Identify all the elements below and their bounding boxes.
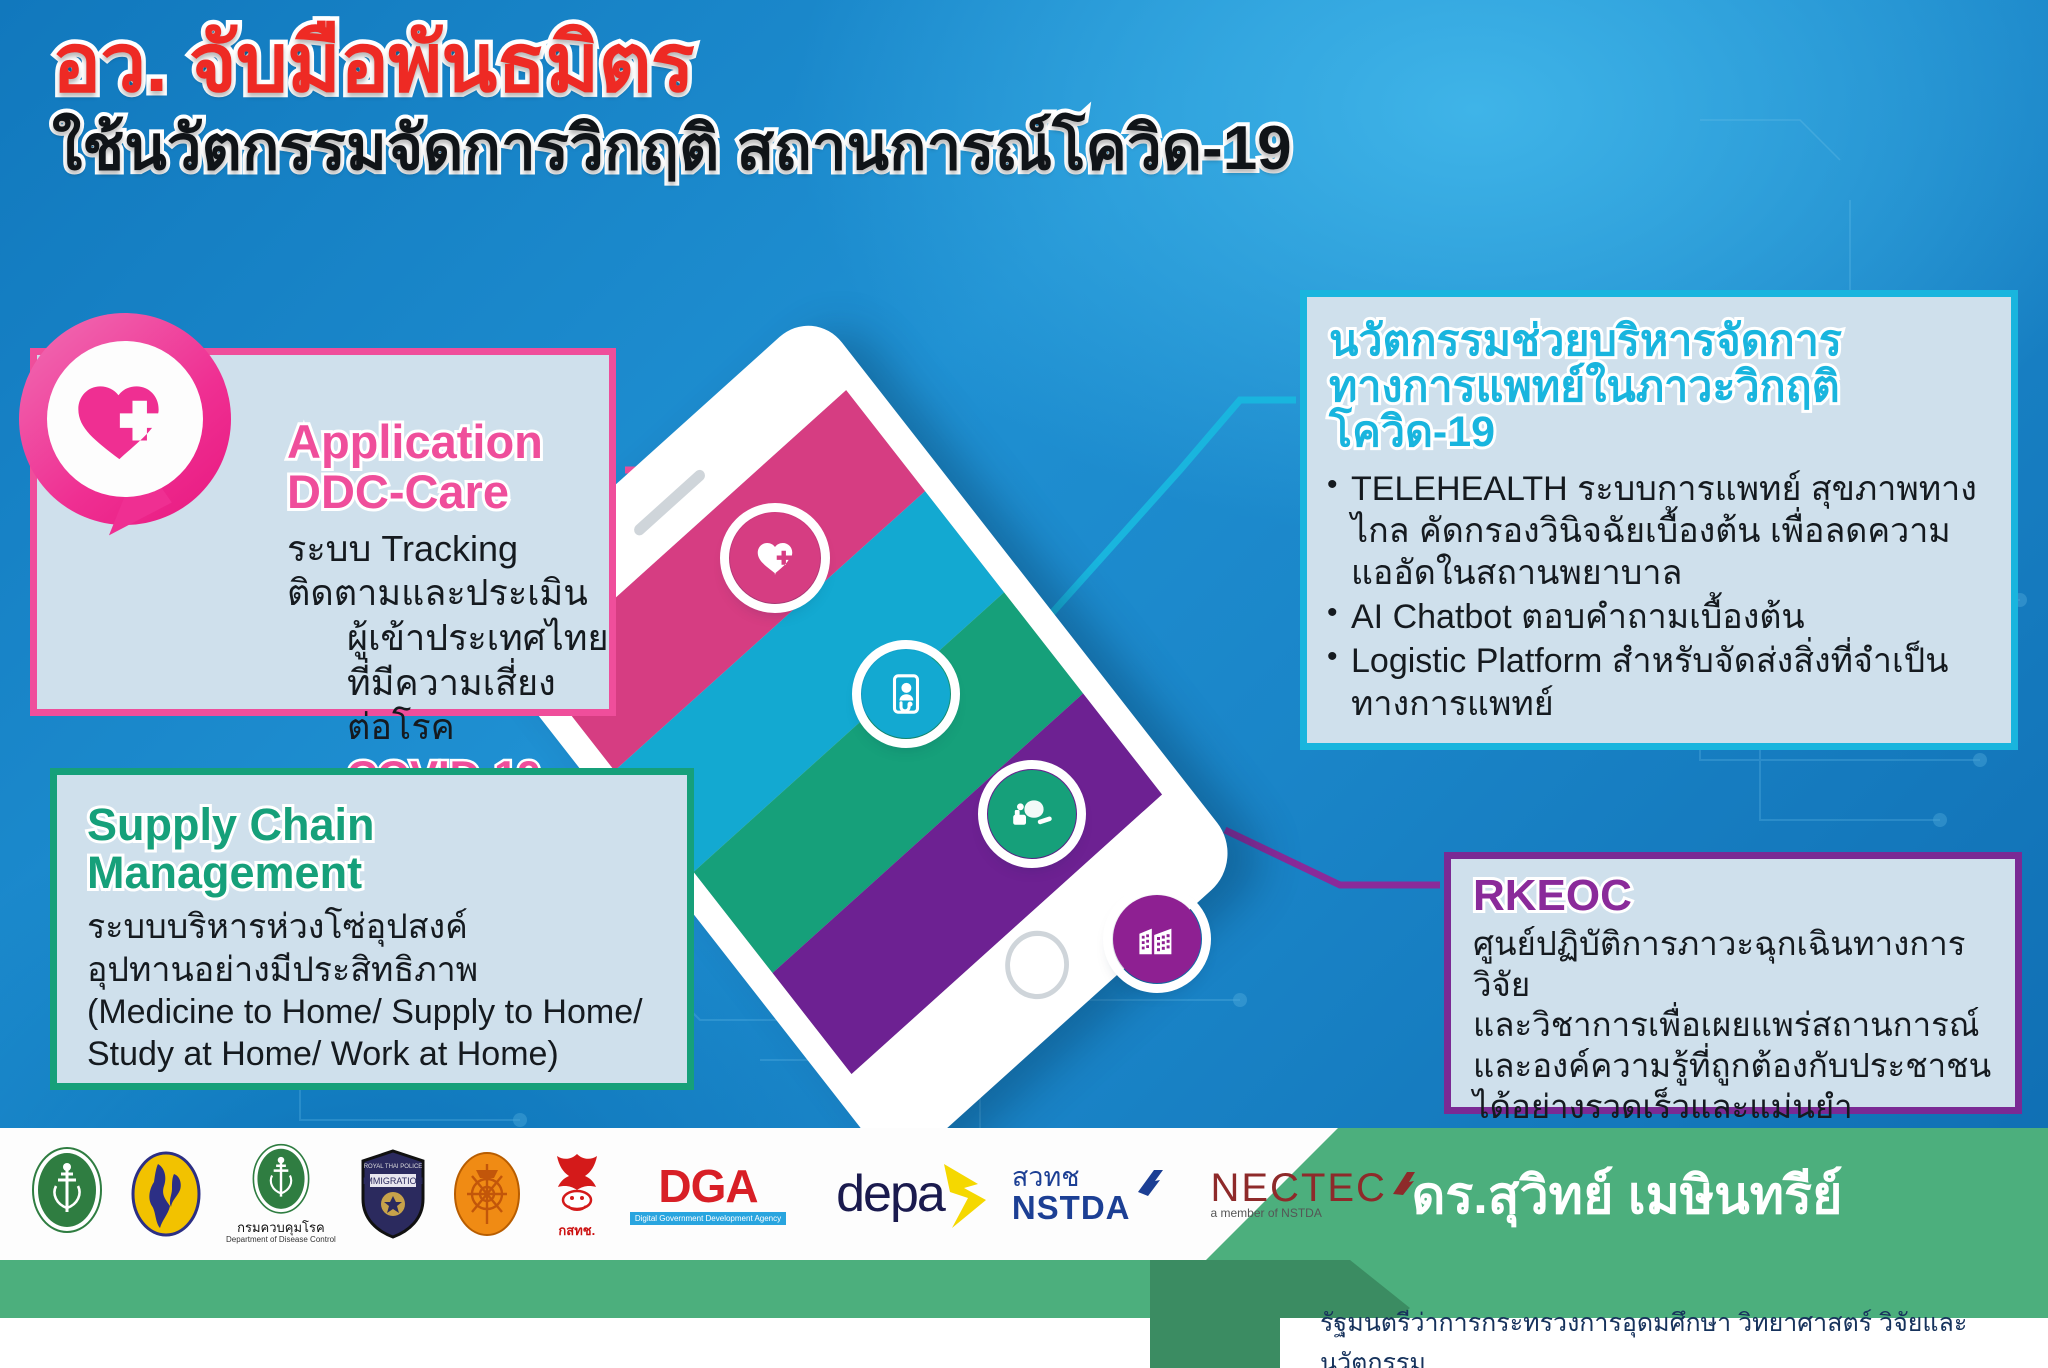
thailand-map-seal-logo <box>128 1148 204 1240</box>
panel-telehealth-body: TELEHEALTH ระบบการแพทย์ สุขภาพทางไกล คัด… <box>1325 468 1993 725</box>
svg-text:IMMIGRATION: IMMIGRATION <box>363 1176 423 1186</box>
panel-telehealth-title-line-3: โควิด-19 <box>1329 410 1989 456</box>
list-item: AI Chatbot ตอบคำถามเบื้องต้น <box>1325 596 1993 638</box>
department-of-disease-control-logo: กรมควบคุมโรค Department of Disease Contr… <box>226 1143 336 1244</box>
panel-ddc-title-line-2: DDC-Care <box>287 467 609 517</box>
list-item: Logistic Platform สำหรับจัดส่งสิ่งที่จำเ… <box>1325 640 1993 724</box>
dga-wordmark: DGA <box>658 1163 757 1209</box>
nbtc-caption: กสทช. <box>558 1224 595 1238</box>
panel-supply-chain-body-line-1: ระบบบริหารห่วงโซ่อุปสงค์ <box>87 906 687 948</box>
panel-rkeoc-body-line-4: ได้อย่างรวดเร็วและแม่นยำ <box>1473 1087 2015 1128</box>
panel-ddc-body-line-4-prefix: ต่อโรค <box>347 706 455 747</box>
panel-rkeoc-title: RKEOC <box>1473 873 2015 920</box>
depa-wordmark: depa <box>836 1168 944 1220</box>
buildings-icon <box>1113 895 1201 983</box>
dga-logo: DGA Digital Government Development Agenc… <box>630 1163 786 1225</box>
svg-text:ROYAL THAI POLICE: ROYAL THAI POLICE <box>364 1164 423 1170</box>
nbtc-logo: กสทช. <box>546 1150 608 1238</box>
panel-supply-chain-body-line-3: (Medicine to Home/ Supply to Home/ <box>87 991 687 1033</box>
panel-supply-chain-title-line-1: Supply Chain <box>87 801 687 849</box>
heart-tracking-icon <box>730 513 820 603</box>
panel-telehealth: นวัตกรรมช่วยบริหารจัดการ ทางการแพทย์ในภา… <box>1300 290 2018 750</box>
panel-supply-chain-body-line-2: อุปทานอย่างมีประสิทธิภาพ <box>87 949 687 991</box>
panel-rkeoc-body: ศูนย์ปฏิบัติการภาวะฉุกเฉินทางการวิจัย แล… <box>1473 924 2015 1129</box>
ministry-of-public-health-logo <box>28 1146 106 1242</box>
panel-telehealth-title-line-1: นวัตกรรมช่วยบริหารจัดการ <box>1329 319 1989 365</box>
dga-subtitle: Digital Government Development Agency <box>630 1212 786 1225</box>
panel-rkeoc-body-line-1: ศูนย์ปฏิบัติการภาวะฉุกเฉินทางการวิจัย <box>1473 924 2015 1006</box>
telemedicine-icon <box>862 650 950 738</box>
panel-supply-chain-body: ระบบบริหารห่วงโซ่อุปสงค์ อุปทานอย่างมีปร… <box>87 906 687 1075</box>
panel-supply-chain: Supply Chain Management ระบบบริหารห่วงโซ… <box>50 768 694 1090</box>
medical-supplies-icon <box>988 770 1076 858</box>
panel-telehealth-title-line-2: ทางการแพทย์ในภาวะวิกฤติ <box>1329 365 1989 411</box>
panel-ddc-care: Application DDC-Care ระบบ Tracking ติดตา… <box>30 348 616 716</box>
panel-rkeoc: RKEOC ศูนย์ปฏิบัติการภาวะฉุกเฉินทางการวิ… <box>1444 852 2022 1114</box>
panel-ddc-title: Application DDC-Care <box>287 417 609 517</box>
panel-supply-chain-title-line-2: Management <box>87 849 687 897</box>
panel-ddc-body-line-1: ระบบ Tracking <box>287 527 609 572</box>
panel-supply-chain-title: Supply Chain Management <box>87 801 687 896</box>
government-garuda-seal-logo <box>450 1148 524 1240</box>
panel-ddc-body-line-3: ผู้เข้าประเทศไทยที่มีความเสี่ยง <box>347 616 609 705</box>
minister-name: ดร.สุวิทย์ เมษินทรีย์ <box>1206 1128 2048 1260</box>
nstda-wordmark: NSTDA <box>1012 1191 1131 1224</box>
panel-rkeoc-body-line-3: และองค์ความรู้ที่ถูกต้องกับประชาชน <box>1473 1046 2015 1087</box>
panel-ddc-title-line-1: Application <box>287 417 609 467</box>
panel-ddc-body: ระบบ Tracking ติดตามและประเมิน ผู้เข้าปร… <box>287 527 609 802</box>
dept-disease-control-caption: กรมควบคุมโรค Department of Disease Contr… <box>226 1221 336 1244</box>
nstda-thai-wordmark: สวทช <box>1012 1164 1131 1191</box>
depa-logo: depa <box>836 1156 1008 1232</box>
minister-role: รัฐมนตรีว่าการกระทรวงการอุดมศึกษา วิทยาศ… <box>1320 1320 2040 1366</box>
panel-rkeoc-body-line-2: และวิชาการเพื่อเผยแพร่สถานการณ์ <box>1473 1005 2015 1046</box>
panel-telehealth-title: นวัตกรรมช่วยบริหารจัดการ ทางการแพทย์ในภา… <box>1329 319 1989 456</box>
nstda-logo: สวทช NSTDA <box>1012 1164 1167 1224</box>
list-item: TELEHEALTH ระบบการแพทย์ สุขภาพทางไกล คัด… <box>1325 468 1993 594</box>
panel-ddc-body-line-2: ติดตามและประเมิน <box>287 571 609 616</box>
panel-supply-chain-body-line-4: Study at Home/ Work at Home) <box>87 1033 687 1075</box>
telehealth-bullet-list: TELEHEALTH ระบบการแพทย์ สุขภาพทางไกล คัด… <box>1325 468 1993 725</box>
infographic-root: อว. จับมือพันธมิตร ใช้นวัตกรรมจัดการวิกฤ… <box>0 0 2048 1368</box>
heart-plus-icon <box>19 313 231 525</box>
footer: กรมควบคุมโรค Department of Disease Contr… <box>0 1128 2048 1368</box>
royal-thai-police-immigration-logo: IMMIGRATION ROYAL THAI POLICE <box>358 1148 428 1240</box>
